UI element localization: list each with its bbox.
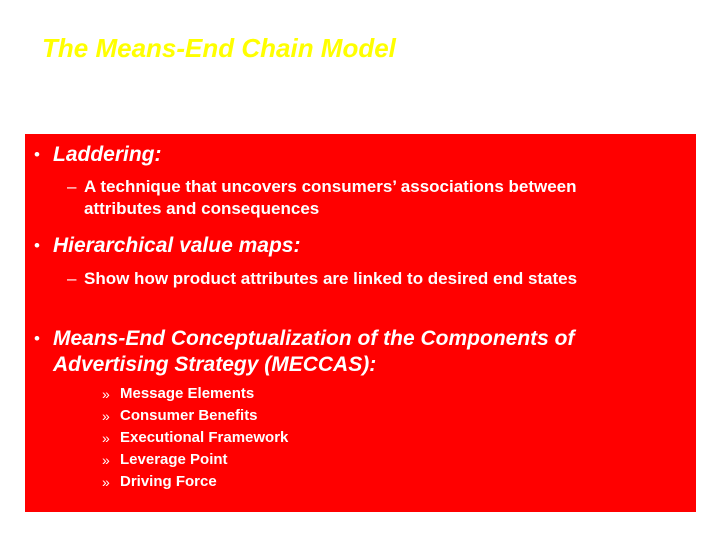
bullet-dot-icon: •	[34, 233, 40, 259]
list-item[interactable]: » Executional Framework	[25, 427, 525, 449]
bullet-dot-icon: •	[34, 142, 40, 168]
bullet-group-laddering: • Laddering:	[25, 142, 685, 168]
dash-bullet-icon: –	[67, 176, 76, 198]
bullet-hierarchical-value-maps-label: Hierarchical value maps:	[53, 234, 300, 257]
list-item[interactable]: » Message Elements	[25, 383, 525, 405]
slide: The Means-End Chain Model • Laddering: –…	[0, 0, 720, 540]
double-chevron-icon: »	[102, 449, 110, 471]
list-item-label: Driving Force	[120, 473, 217, 490]
list-item[interactable]: » Leverage Point	[25, 449, 525, 471]
bullet-hierarchical-value-maps[interactable]: • Hierarchical value maps:	[25, 233, 685, 259]
content-box: • Laddering: – A technique that uncovers…	[25, 134, 696, 512]
bullet-group-hierarchical-value-maps: • Hierarchical value maps:	[25, 233, 685, 259]
double-chevron-icon: »	[102, 383, 110, 405]
list-item-label: Leverage Point	[120, 451, 228, 468]
list-item[interactable]: » Consumer Benefits	[25, 405, 525, 427]
list-item-label: Executional Framework	[120, 429, 288, 446]
sub-bullet-hvm-description[interactable]: – Show how product attributes are linked…	[25, 268, 665, 290]
double-chevron-icon: »	[102, 471, 110, 493]
list-item-label: Message Elements	[120, 385, 254, 402]
sub-bullet-laddering-label: A technique that uncovers consumers’ ass…	[84, 177, 577, 218]
bullet-group-meccas: • Means-End Conceptualization of the Com…	[25, 326, 673, 378]
sub-bullet-laddering-description[interactable]: – A technique that uncovers consumers’ a…	[25, 176, 625, 220]
page-title: The Means-End Chain Model	[42, 31, 682, 65]
bullet-laddering[interactable]: • Laddering:	[25, 142, 685, 168]
bullet-group-laddering-sub: – A technique that uncovers consumers’ a…	[25, 176, 625, 220]
bullet-group-hvm-sub: – Show how product attributes are linked…	[25, 268, 665, 290]
meccas-component-list: » Message Elements » Consumer Benefits »…	[25, 383, 525, 493]
sub-bullet-hvm-label: Show how product attributes are linked t…	[84, 269, 577, 288]
dash-bullet-icon: –	[67, 268, 76, 290]
bullet-laddering-label: Laddering:	[53, 143, 162, 166]
double-chevron-icon: »	[102, 405, 110, 427]
bullet-meccas[interactable]: • Means-End Conceptualization of the Com…	[25, 326, 673, 378]
double-chevron-icon: »	[102, 427, 110, 449]
list-item[interactable]: » Driving Force	[25, 471, 525, 493]
list-item-label: Consumer Benefits	[120, 407, 258, 424]
bullet-meccas-label: Means-End Conceptualization of the Compo…	[53, 327, 575, 376]
bullet-dot-icon: •	[34, 326, 40, 352]
